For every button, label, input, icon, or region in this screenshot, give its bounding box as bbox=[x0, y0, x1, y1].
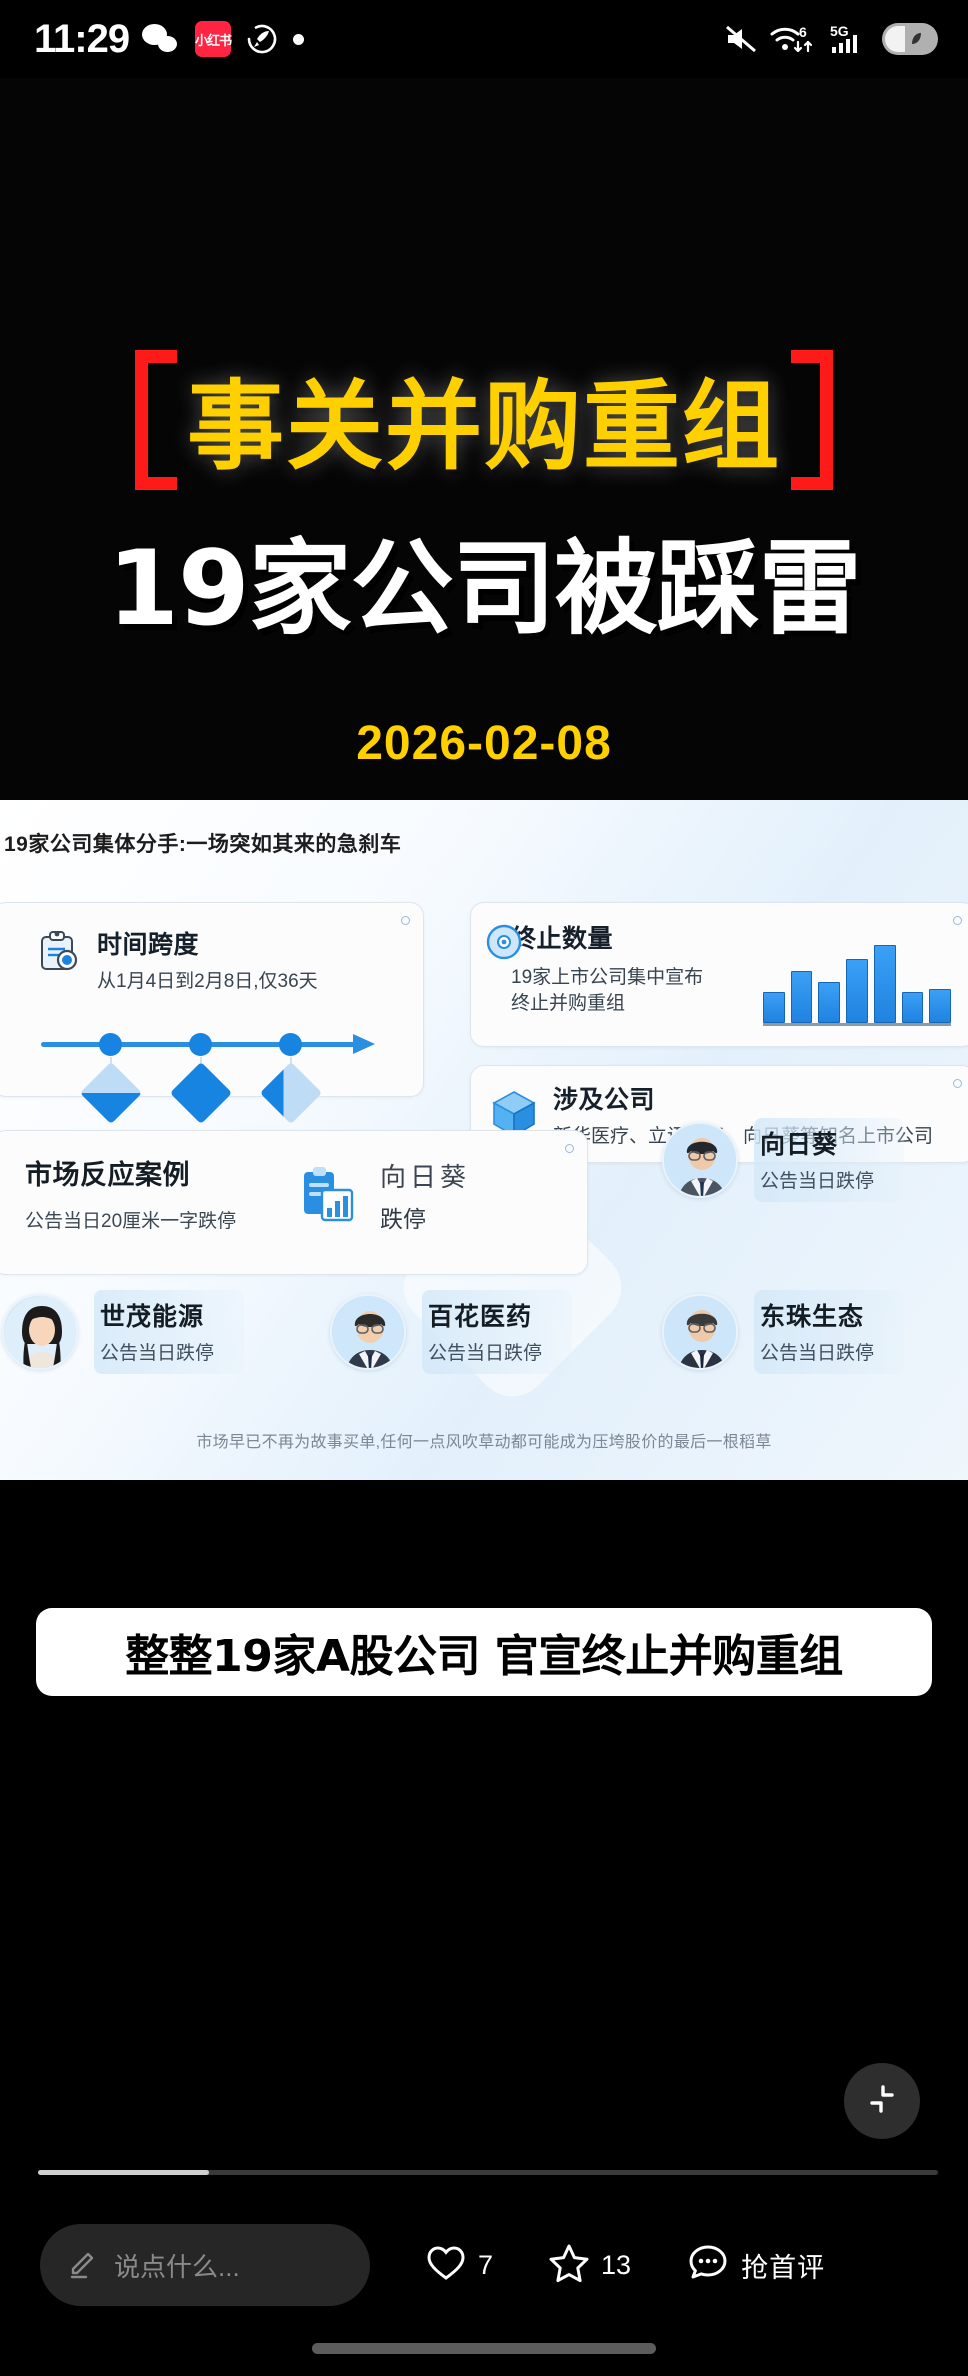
company-chip-name: 向日葵 bbox=[760, 1125, 874, 1161]
infographic-section: 19家公司集体分手:一场突如其来的急刹车 时间跨度 从1月4日到2月8日,仅36… bbox=[0, 800, 968, 1480]
comment-input-placeholder: 说点什么... bbox=[114, 2247, 240, 2284]
status-bar-clock: 11:29 bbox=[34, 19, 129, 59]
company-chip-name: 东珠生态 bbox=[760, 1297, 874, 1333]
favorite-count: 13 bbox=[601, 2250, 631, 2281]
collapse-button[interactable] bbox=[844, 2063, 920, 2139]
wifi-6-icon: 6 bbox=[770, 23, 818, 55]
disc-icon bbox=[485, 923, 523, 961]
caption-banner: 整整19家A股公司 官宣终止并购重组 bbox=[36, 1608, 932, 1696]
status-bar-right: 6 5G bbox=[724, 23, 938, 55]
comment-bubble-icon bbox=[685, 2241, 731, 2290]
bar-2 bbox=[791, 971, 813, 1023]
video-progress-fill bbox=[38, 2170, 209, 2175]
video-progress-bar[interactable] bbox=[38, 2170, 938, 2175]
company-chip-text: 世茂能源 公告当日跌停 bbox=[94, 1290, 244, 1374]
svg-text:5G: 5G bbox=[830, 23, 849, 39]
bracket-right-icon bbox=[791, 350, 833, 490]
card-time-span[interactable]: 时间跨度 从1月4日到2月8日,仅36天 bbox=[0, 902, 424, 1097]
company-chip-text: 向日葵 公告当日跌停 bbox=[754, 1118, 904, 1202]
mute-icon bbox=[724, 24, 758, 54]
hero-title-top-wrap: 事关并购重组 bbox=[0, 378, 968, 475]
company-chip[interactable]: 东珠生态 公告当日跌停 bbox=[662, 1290, 904, 1374]
collapse-icon bbox=[863, 2080, 901, 2123]
comment-label: 抢首评 bbox=[741, 2246, 825, 2285]
lower-section: 整整19家A股公司 官宣终止并购重组 说点什么... bbox=[0, 1480, 968, 2376]
timeline-diamond bbox=[80, 1062, 142, 1124]
bar-7 bbox=[929, 989, 951, 1023]
bar-5 bbox=[874, 945, 896, 1023]
home-indicator bbox=[312, 2343, 656, 2354]
dot-indicator-icon bbox=[293, 34, 304, 45]
caption-banner-text: 整整19家A股公司 官宣终止并购重组 bbox=[125, 1620, 843, 1684]
company-chip-text: 东珠生态 公告当日跌停 bbox=[754, 1290, 904, 1374]
company-chip-status: 公告当日跌停 bbox=[760, 1166, 874, 1193]
timeline-node bbox=[189, 1033, 212, 1056]
favorite-button[interactable]: 13 bbox=[547, 2241, 631, 2290]
card-time-span-text: 时间跨度 从1月4日到2月8日,仅36天 bbox=[97, 925, 318, 995]
bracket-frame: 事关并购重组 bbox=[153, 378, 815, 475]
company-chip-status: 公告当日跌停 bbox=[428, 1338, 542, 1365]
status-bar-left: 11:29 小红书 bbox=[34, 19, 304, 59]
card-time-span-header: 时间跨度 从1月4日到2月8日,仅36天 bbox=[0, 903, 423, 995]
like-button[interactable]: 7 bbox=[424, 2241, 493, 2290]
company-chip-name: 百花医药 bbox=[428, 1297, 542, 1333]
terminated-count-bar-chart bbox=[763, 940, 951, 1026]
comment-input[interactable]: 说点什么... bbox=[40, 2224, 370, 2306]
bracket-left-icon bbox=[135, 350, 177, 490]
like-count: 7 bbox=[478, 2250, 493, 2281]
company-chip[interactable]: 世茂能源 公告当日跌停 bbox=[2, 1290, 244, 1374]
pencil-icon bbox=[66, 2246, 100, 2285]
avatar bbox=[662, 1294, 738, 1370]
card-market-reaction-text: 市场反应案例 公告当日20厘米一字跌停 bbox=[0, 1131, 587, 1233]
timeline-diamond bbox=[260, 1062, 322, 1124]
bar-6 bbox=[902, 992, 924, 1023]
heart-icon bbox=[424, 2241, 468, 2290]
card-companies-title: 涉及公司 bbox=[553, 1080, 968, 1116]
company-chip-status: 公告当日跌停 bbox=[760, 1338, 874, 1365]
action-bar: 说点什么... 7 13 bbox=[0, 2210, 968, 2320]
clipboard-search-icon bbox=[37, 929, 83, 975]
card-time-span-subtitle: 从1月4日到2月8日,仅36天 bbox=[97, 969, 318, 995]
star-icon bbox=[547, 2241, 591, 2290]
5g-signal-icon: 5G bbox=[830, 23, 870, 55]
card-corner-dot-icon bbox=[953, 1079, 962, 1088]
svg-text:6: 6 bbox=[799, 24, 807, 40]
hero-date: 2026-02-08 bbox=[0, 716, 968, 771]
avatar bbox=[662, 1122, 738, 1198]
timeline-arrow-icon bbox=[353, 1034, 375, 1054]
timeline-diamond bbox=[170, 1062, 232, 1124]
card-market-reaction-highlight: 向日葵 跌停 bbox=[298, 1157, 470, 1234]
timeline-graphic bbox=[41, 1021, 381, 1097]
hero-title-top: 事关并购重组 bbox=[187, 378, 781, 475]
clipboard-chart-icon bbox=[298, 1164, 358, 1228]
rocket-icon bbox=[244, 21, 280, 57]
company-chip-status: 公告当日跌停 bbox=[100, 1338, 214, 1365]
hero-title-main: 19家公司被踩雷 bbox=[0, 538, 968, 641]
card-corner-dot-icon bbox=[401, 916, 410, 925]
timeline-node bbox=[279, 1033, 302, 1056]
company-chip[interactable]: 向日葵 公告当日跌停 bbox=[662, 1118, 904, 1202]
card-terminated-count[interactable]: 终止数量 19家上市公司集中宣布 终止并购重组 bbox=[470, 902, 968, 1047]
wechat-icon bbox=[142, 24, 182, 54]
avatar bbox=[330, 1294, 406, 1370]
battery-saver-icon bbox=[882, 23, 938, 55]
card-market-reaction-company: 向日葵 跌停 bbox=[380, 1157, 470, 1234]
bar-3 bbox=[818, 982, 840, 1024]
company-chip[interactable]: 百花医药 公告当日跌停 bbox=[330, 1290, 572, 1374]
card-corner-dot-icon bbox=[565, 1144, 574, 1153]
status-bar: 11:29 小红书 6 bbox=[0, 0, 968, 78]
card-time-span-title: 时间跨度 bbox=[97, 925, 318, 961]
bar-1 bbox=[763, 992, 785, 1023]
xiaohongshu-icon: 小红书 bbox=[195, 21, 231, 57]
company-chip-name: 世茂能源 bbox=[100, 1297, 214, 1333]
bar-4 bbox=[846, 959, 868, 1023]
infographic-headline: 19家公司集体分手:一场突如其来的急刹车 bbox=[4, 828, 401, 858]
timeline-node bbox=[99, 1033, 122, 1056]
comment-button[interactable]: 抢首评 bbox=[685, 2241, 825, 2290]
card-market-reaction[interactable]: 市场反应案例 公告当日20厘米一字跌停 向日葵 跌停 bbox=[0, 1130, 588, 1275]
highlight-company-status: 跌停 bbox=[380, 1200, 470, 1234]
card-corner-dot-icon bbox=[953, 916, 962, 925]
hero-section: 事关并购重组 19家公司被踩雷 2026-02-08 bbox=[0, 78, 968, 800]
company-chip-text: 百花医药 公告当日跌停 bbox=[422, 1290, 572, 1374]
highlight-company-name: 向日葵 bbox=[380, 1157, 470, 1194]
avatar bbox=[2, 1294, 78, 1370]
infographic-footer-note: 市场早已不再为故事买单,任何一点风吹草动都可能成为压垮股价的最后一根稻草 bbox=[0, 1428, 968, 1452]
